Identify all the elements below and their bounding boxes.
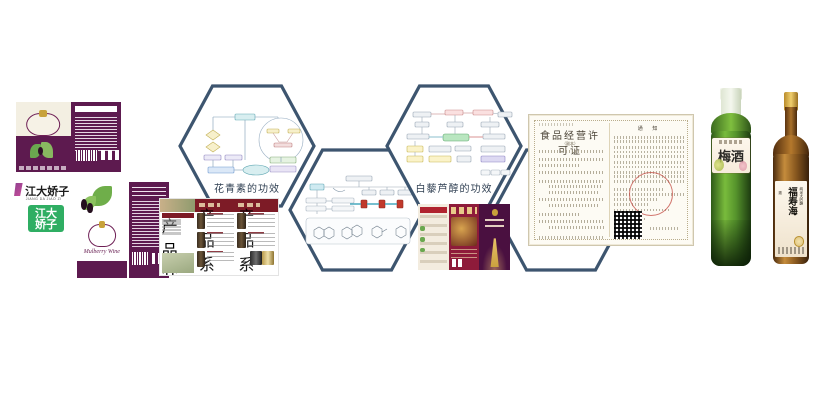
brand-badge-green: 江大娇子 bbox=[28, 205, 64, 232]
entry-specs bbox=[248, 214, 275, 226]
label-topline bbox=[719, 140, 742, 144]
label-face-panel: Mulberry Wine bbox=[77, 182, 127, 278]
bottle-thumb bbox=[197, 213, 206, 229]
mulberry-illustration bbox=[79, 185, 118, 218]
berry-2-icon bbox=[87, 203, 93, 213]
food-business-licence: 食品经营许可证 （副本） 通 知 bbox=[528, 114, 694, 246]
catalog-intro-line bbox=[162, 232, 194, 234]
entry-specs bbox=[207, 214, 234, 226]
back-icon-1 bbox=[152, 253, 155, 264]
front-purple-block bbox=[16, 136, 71, 172]
back-title-block bbox=[132, 187, 166, 199]
qr-code bbox=[614, 211, 642, 239]
plum-wine-bottle: 梅酒 bbox=[709, 88, 753, 266]
qr-code-2 bbox=[458, 259, 462, 268]
mulberry-berry-icon bbox=[38, 147, 43, 155]
catalog-intro-line bbox=[162, 222, 194, 224]
blossom-icon bbox=[739, 161, 748, 171]
certificate-field-row bbox=[549, 204, 598, 207]
certificate-field-row bbox=[539, 164, 582, 167]
certificate-subtitle: （副本） bbox=[536, 141, 605, 147]
notice-line bbox=[614, 161, 685, 164]
catalog-intro-title: 产品介绍 bbox=[162, 213, 194, 217]
catalog-intro-line bbox=[162, 219, 194, 221]
catalog-product-entry bbox=[237, 213, 276, 229]
catalog-intro-photo bbox=[162, 253, 194, 273]
certificate-field-row bbox=[549, 191, 598, 194]
notice-line bbox=[614, 136, 685, 139]
certificate-field-row bbox=[539, 158, 605, 161]
logo-mark-icon bbox=[14, 183, 23, 196]
catalog-intro-line bbox=[162, 229, 194, 231]
panel-chip-1 bbox=[420, 226, 424, 231]
label-front-panel bbox=[16, 102, 71, 172]
notice-line bbox=[614, 166, 685, 169]
bottle-thumb bbox=[237, 232, 246, 248]
barcode bbox=[132, 252, 149, 264]
label-back-panel bbox=[71, 102, 121, 172]
catalog-cover-photo bbox=[160, 199, 195, 212]
catalog-product-entry bbox=[196, 213, 235, 229]
notice-line bbox=[614, 140, 685, 143]
certificate-field-row bbox=[539, 198, 605, 201]
front-fineprint bbox=[19, 166, 67, 170]
certificate-topcode bbox=[539, 123, 575, 126]
catalog-product-entry bbox=[196, 251, 235, 267]
crest-emblem bbox=[492, 209, 498, 216]
catalog-product-entry bbox=[196, 232, 235, 248]
label-side-text: 灘 bbox=[778, 191, 783, 194]
wine-label-bottle-mulberry: Mulberry Wine bbox=[77, 182, 169, 278]
trifold-brochure bbox=[418, 204, 510, 270]
certificate-field-row bbox=[539, 150, 605, 153]
giftbox-thumb bbox=[250, 251, 262, 265]
catalog-heading-1: 产品系列 一 bbox=[199, 203, 220, 207]
catalog-header-bar: 产品系列 一 产品系列 二 bbox=[195, 199, 278, 212]
composition-canvas: 花青素的功效 bbox=[0, 0, 828, 411]
entry-specs bbox=[248, 233, 275, 245]
certificate-field-row bbox=[539, 213, 582, 216]
catalog-product-column bbox=[237, 213, 276, 272]
certificate-footer-row bbox=[539, 236, 605, 239]
back-icon-2 bbox=[108, 150, 113, 160]
crest-emblem bbox=[26, 113, 60, 136]
back-title-block bbox=[75, 106, 117, 112]
brand-logo-lockup: 江大娇子 JIANG DA JIAO ZI bbox=[14, 183, 76, 201]
crest-emblem bbox=[88, 224, 116, 247]
certificate-notice-heading: 通 知 bbox=[614, 125, 685, 132]
fukujukai-sake-bottle: 純米大吟醸 灘 福寿海 bbox=[768, 92, 814, 264]
panel-chip-2 bbox=[420, 237, 424, 242]
label-footer-text bbox=[778, 247, 803, 255]
qr-code-1 bbox=[452, 259, 456, 268]
wine-label-front-back-top bbox=[16, 102, 121, 172]
plum-fruit-icon bbox=[714, 159, 724, 171]
brand-badge-text: 江大娇子 bbox=[35, 208, 57, 230]
back-icon-1 bbox=[101, 150, 106, 160]
award-medal-icon bbox=[794, 236, 804, 246]
bottle-label-text: 福寿海 bbox=[786, 187, 796, 216]
mulberry-leaf2-icon bbox=[41, 142, 53, 158]
panel-heading bbox=[451, 207, 477, 214]
barcode bbox=[76, 150, 98, 161]
certificate-field-row bbox=[549, 185, 601, 188]
label-script-text: Mulberry Wine bbox=[77, 249, 127, 255]
catalog-product-entry bbox=[237, 251, 276, 265]
entry-specs bbox=[207, 252, 234, 264]
certificate-field-row bbox=[549, 226, 605, 229]
catalog-intro-line bbox=[162, 226, 194, 228]
panel-title bbox=[485, 219, 505, 230]
certificate-field-row bbox=[539, 171, 605, 174]
brochure-panel-left bbox=[418, 204, 449, 270]
issue-date-line bbox=[650, 227, 680, 230]
product-catalog-spread: 产品系列 一 产品系列 二 产品介绍 bbox=[159, 198, 279, 276]
catalog-intro-column: 产品介绍 bbox=[162, 213, 194, 272]
certificate-divider bbox=[609, 123, 610, 237]
face-purple-footer bbox=[77, 261, 127, 278]
catalog-heading-2: 产品系列 二 bbox=[238, 203, 259, 207]
label-grade-text: 純米大吟醸 bbox=[800, 187, 805, 205]
certificate-field-row bbox=[539, 180, 605, 183]
bottle-label: 梅酒 bbox=[712, 138, 751, 174]
panel-heading-bar bbox=[420, 207, 447, 213]
back-icon-3 bbox=[115, 150, 120, 160]
certificate-field-row bbox=[539, 220, 605, 223]
brochure-panel-middle bbox=[449, 204, 480, 270]
notice-line bbox=[614, 146, 685, 149]
bottle-thumb bbox=[237, 213, 246, 229]
brochure-panel-right bbox=[479, 204, 510, 270]
panel-photo bbox=[451, 217, 477, 246]
notice-line bbox=[614, 155, 685, 158]
bottle-thumb bbox=[197, 251, 206, 267]
logo-pinyin: JIANG DA JIAO ZI bbox=[26, 197, 62, 201]
bottle-thumb bbox=[197, 232, 206, 248]
back-text-lines bbox=[75, 117, 117, 151]
catalog-product-column bbox=[196, 213, 235, 272]
bottle-label: 純米大吟醸 灘 福寿海 bbox=[775, 181, 806, 257]
panel-chip-3 bbox=[420, 248, 424, 253]
notice-line bbox=[614, 151, 685, 154]
catalog-product-entry bbox=[237, 232, 276, 248]
entry-specs bbox=[207, 233, 234, 245]
giftbox-thumb bbox=[262, 251, 274, 265]
